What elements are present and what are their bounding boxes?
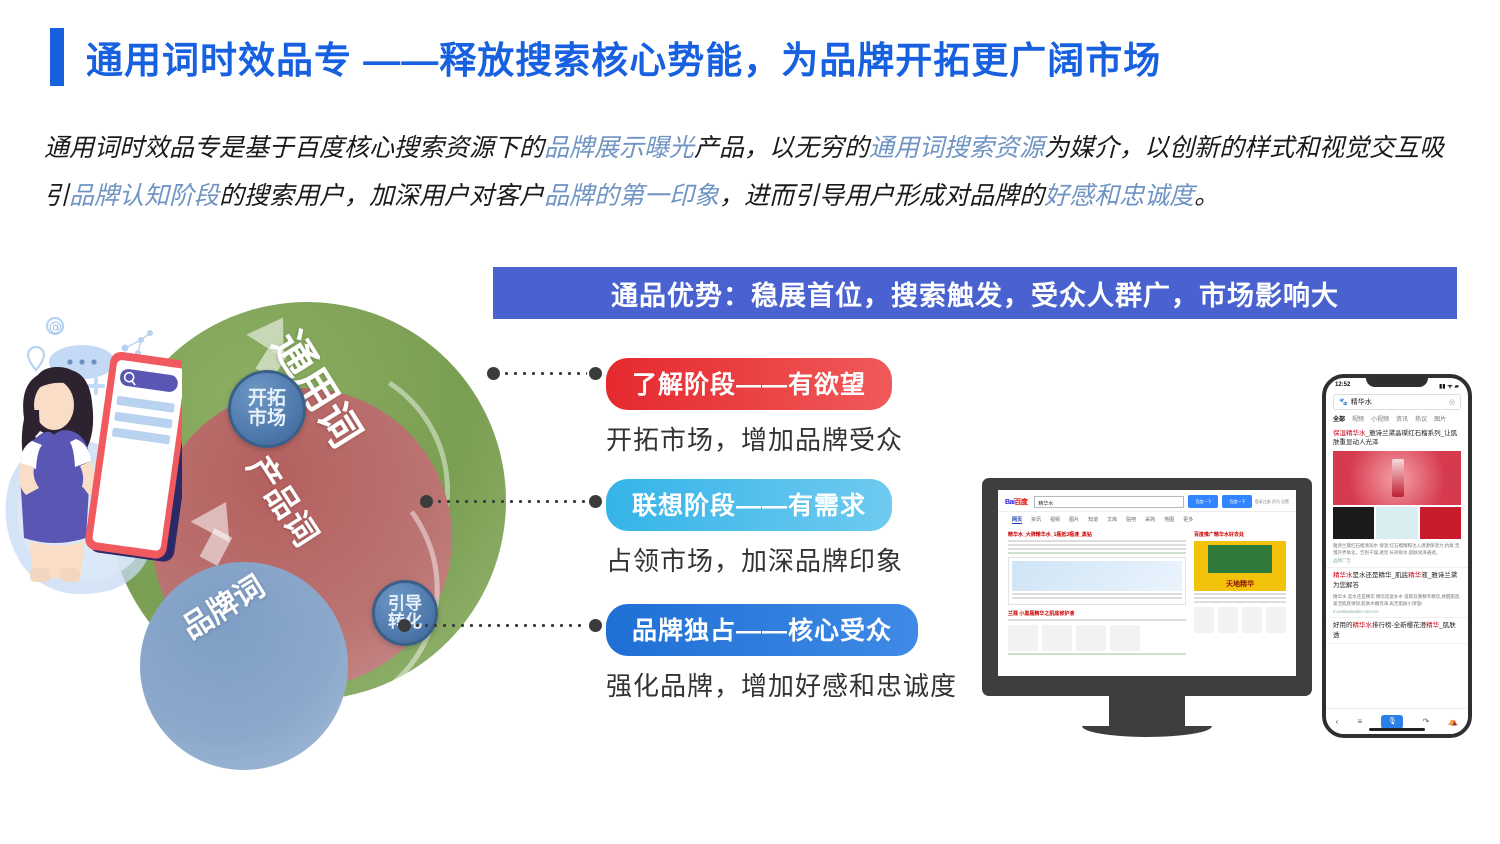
serp-search-button-2[interactable]: 百度一下 [1222, 495, 1252, 508]
badge-open-market-line2: 市场 [248, 409, 286, 429]
serp-tab-0[interactable]: 网页 [1012, 516, 1022, 524]
baidu-logo-du: 百度 [1014, 499, 1027, 506]
serp-sidebar-ad-image [1208, 545, 1272, 573]
stage-block-1: 了解阶段——有欲望 开拓市场，增加品牌受众 [606, 358, 903, 457]
serp-sidebar-ad-banner[interactable]: 天地精华 [1194, 541, 1286, 591]
badge-guide-conversion: 引导 转化 [372, 580, 438, 646]
phone-result-title-3[interactable]: 好用的精华水排行榜-全新樱花澄精华_肌肤透 [1333, 621, 1461, 640]
phone-subimage[interactable] [1376, 507, 1417, 539]
stage-block-2: 联想阶段——有需求 占领市场，加深品牌印象 [606, 479, 903, 578]
phone-tab-bar[interactable]: 全部视频小视频资讯热议图片 [1326, 410, 1468, 426]
serp-results-column: 精华水_大牌精华水_1瓶抵3瓶液_黑钻 兰蔻 小黑瓶精华之肌底修护液 [1008, 531, 1186, 657]
phone-result-title-1[interactable]: 保湿精华水_雅诗兰黛晶璨红石榴系列_让肌肤重显动人光泽 [1333, 429, 1461, 448]
serp-thumbnail-row [1008, 625, 1186, 651]
phone-home-indicator [1369, 728, 1425, 731]
serp-ad-image [1012, 561, 1182, 591]
baidu-serp-desktop: Bai百度 精华水 百度一下 百度一下 登录注册 资讯 设置 网页资讯视频图片知… [998, 490, 1296, 676]
phone-tab-0[interactable]: 全部 [1333, 414, 1345, 423]
title-accent-bar [50, 28, 64, 86]
monitor-screen: Bai百度 精华水 百度一下 百度一下 登录注册 资讯 设置 网页资讯视频图片知… [998, 490, 1296, 676]
serp-snippet-line [1008, 540, 1186, 542]
badge-open-market-line1: 开拓 [248, 389, 286, 409]
connector-dot [589, 367, 602, 380]
serp-thumbnail[interactable] [1242, 607, 1262, 633]
intro-text: 产品，以无穷的 [694, 134, 869, 162]
monitor-bezel: Bai百度 精华水 百度一下 百度一下 登录注册 资讯 设置 网页资讯视频图片知… [982, 478, 1312, 696]
phone-result-subimages [1333, 507, 1461, 539]
phone-tab-1[interactable]: 视频 [1352, 414, 1364, 423]
phone-status-time: 12:52 [1335, 382, 1350, 390]
connector-line-3 [398, 618, 602, 632]
phone-result-desc-1: 雅诗兰黛红石榴清润水 保湿:红石榴精粹注入源源保湿力;抗氧:无惧外界氧化，告别干… [1333, 542, 1461, 556]
serp-sidebar-line [1194, 597, 1286, 599]
serp-ad-line [1012, 593, 1182, 595]
back-icon[interactable]: ‹ [1336, 717, 1339, 726]
phone-notch [1366, 374, 1428, 387]
intro-highlight: 品牌认知阶段 [69, 182, 219, 210]
serp-tab-3[interactable]: 图片 [1069, 516, 1079, 524]
phone-title-keyword: 精华水 [1353, 622, 1373, 629]
serp-sidebar-line [1194, 601, 1286, 603]
intro-text: 的搜索用户，加深用户对客户 [219, 182, 544, 210]
serp-thumbnail[interactable] [1218, 607, 1238, 633]
serp-tab-9[interactable]: 更多 [1183, 516, 1193, 524]
serp-body: 精华水_大牌精华水_1瓶抵3瓶液_黑钻 兰蔻 小黑瓶精华之肌底修护液 [998, 528, 1296, 660]
stage-desc-brand-exclusive: 强化品牌，增加好感和忠诚度 [606, 666, 957, 703]
phone-screen: 12:52 ▮▮ ᯤ ▰ 🐾 精华水 ◎ 全部视频小视频资讯热议图片 保湿精华水… [1322, 374, 1472, 738]
phone-title-keyword: 精华水 [1346, 430, 1366, 437]
serp-thumbnail[interactable] [1110, 625, 1140, 651]
advantage-banner-text: 通品优势：稳展首位，搜索触发，受众人群广，市场影响大 [611, 274, 1339, 313]
phone-title-keyword: 精华水 [1333, 572, 1353, 579]
serp-thumbnail[interactable] [1042, 625, 1072, 651]
connector-dot [398, 619, 411, 632]
phone-tab-2[interactable]: 小视频 [1371, 414, 1389, 423]
stage-pill-consideration: 联想阶段——有需求 [606, 479, 892, 531]
serp-sidebar-title[interactable]: 百度推广精华水好去处 [1194, 531, 1286, 538]
serp-tab-1[interactable]: 资讯 [1031, 516, 1041, 524]
phone-status-icons: ▮▮ ᯤ ▰ [1439, 382, 1459, 390]
intro-highlight: 好感和忠诚度 [1044, 182, 1194, 210]
intro-text: ，进而引导用户形成对品牌的 [719, 182, 1044, 210]
monitor-stand-neck [1109, 694, 1185, 730]
phone-subimage[interactable] [1420, 507, 1461, 539]
connector-dotted-line [435, 500, 587, 503]
phone-title-text: 是水还是精华_肌底 [1353, 572, 1409, 579]
phone-result-1[interactable]: 保湿精华水_雅诗兰黛晶璨红石榴系列_让肌肤重显动人光泽 雅诗兰黛红石榴清润水 保… [1326, 426, 1468, 568]
serp-search-button-1[interactable]: 百度一下 [1188, 495, 1218, 508]
connector-dot [589, 619, 602, 632]
connector-dot [420, 495, 433, 508]
serp-tab-5[interactable]: 文库 [1107, 516, 1117, 524]
serp-header: Bai百度 精华水 百度一下 百度一下 登录注册 资讯 设置 [998, 490, 1296, 512]
phone-title-text: 好用的 [1333, 622, 1353, 629]
phone-result-desc-2: 精华水 是水还是精华 精华反复补水 提取双重精萃精华,焕醒肌底,紧活肌底弹韧,肌… [1333, 593, 1461, 607]
phone-result-url-2[interactable]: m.estlaelauder.com.cn [1333, 609, 1461, 614]
phone-tab-4[interactable]: 热议 [1415, 414, 1427, 423]
monitor-stand-base [1082, 726, 1212, 737]
serp-thumbnail[interactable] [1076, 625, 1106, 651]
intro-text: 。 [1194, 182, 1219, 210]
serp-tab-4[interactable]: 知道 [1088, 516, 1098, 524]
avatar-icon[interactable]: ⛺ [1448, 717, 1458, 726]
phone-title-keyword: 保湿 [1333, 430, 1346, 437]
page-header: 通用词时效品专 ——释放搜索核心势能，为品牌开拓更广阔市场 [50, 28, 1161, 86]
connector-dotted-line [502, 372, 587, 375]
serp-tab-2[interactable]: 视频 [1050, 516, 1060, 524]
baidu-paw-icon: 🐾 [1339, 398, 1348, 406]
phone-title-keyword: 精华 [1426, 622, 1439, 629]
intro-highlight: 品牌展示曝光 [544, 134, 694, 162]
intro-paragraph: 通用词时效品专是基于百度核心搜索资源下的品牌展示曝光产品，以无穷的通用词搜索资源… [44, 124, 1464, 220]
serp-tab-7[interactable]: 采购 [1145, 516, 1155, 524]
intro-highlight: 品牌的第一印象 [544, 182, 719, 210]
refresh-icon[interactable]: ↷ [1423, 717, 1430, 726]
serp-snippet-line [1008, 544, 1186, 546]
woman-with-phone-illustration: @ [2, 300, 182, 700]
badge-open-market: 开拓 市场 [228, 370, 306, 448]
serp-search-input[interactable]: 精华水 [1034, 496, 1184, 508]
phone-search-value: 精华水 [1351, 397, 1372, 407]
serp-result-title[interactable]: 精华水_大牌精华水_1瓶抵3瓶液_黑钻 [1008, 531, 1186, 538]
baidu-logo-icon: Bai百度 [1005, 497, 1027, 507]
phone-result-label-1: 品牌广告 [1333, 558, 1461, 564]
serp-result-title-2[interactable]: 兰蔻 小黑瓶精华之肌底修护液 [1008, 610, 1186, 617]
stage-desc-consideration: 占领市场，加深品牌印象 [606, 541, 903, 578]
serp-thumbnail[interactable] [1194, 607, 1214, 633]
connector-line-2 [420, 494, 602, 508]
mic-icon[interactable]: 🎙 [1381, 715, 1403, 729]
intro-highlight: 通用词搜索资源 [869, 134, 1044, 162]
product-bottle-shape [1392, 459, 1404, 497]
phone-result-2[interactable]: 精华水是水还是精华_肌底精华液_雅诗兰黛为您解答 精华水 是水还是精华 精华反复… [1326, 568, 1468, 618]
stage-block-3: 品牌独占——核心受众 强化品牌，增加好感和忠诚度 [606, 604, 957, 703]
mobile-phone-mockup: 12:52 ▮▮ ᯤ ▰ 🐾 精华水 ◎ 全部视频小视频资讯热议图片 保湿精华水… [1322, 374, 1472, 738]
serp-url-line [1008, 552, 1186, 554]
stage-pill-awareness: 了解阶段——有欲望 [606, 358, 892, 410]
phone-result-image-main [1333, 451, 1461, 505]
serp-sidebar-column: 百度推广精华水好去处 天地精华 [1194, 531, 1286, 657]
serp-ad-box [1008, 557, 1186, 605]
serp-snippet-line [1008, 619, 1186, 621]
stage-desc-awareness: 开拓市场，增加品牌受众 [606, 420, 903, 457]
serp-tab-6[interactable]: 贴吧 [1126, 516, 1136, 524]
serp-ad-line [1012, 597, 1182, 599]
serp-url-line [1008, 653, 1186, 655]
keyword-funnel-diagram: 通用词 产品词 品牌词 开拓 市场 引导 转化 @ [0, 290, 520, 740]
phone-result-title-2[interactable]: 精华水是水还是精华_肌底精华液_雅诗兰黛为您解答 [1333, 571, 1461, 590]
phone-tab-3[interactable]: 资讯 [1396, 414, 1408, 423]
serp-sidebar-line [1194, 593, 1286, 595]
serp-snippet-line [1008, 548, 1186, 550]
advantage-banner: 通品优势：稳展首位，搜索触发，受众人群广，市场影响大 [493, 267, 1457, 319]
connector-dotted-line [413, 624, 587, 627]
serp-thumbnail[interactable] [1266, 607, 1286, 633]
intro-text: 通用词时效品专是基于百度核心搜索资源下的 [44, 134, 544, 162]
desktop-monitor-mockup: Bai百度 精华水 百度一下 百度一下 登录注册 资讯 设置 网页资讯视频图片知… [982, 478, 1312, 753]
serp-sidebar-ad-text: 天地精华 [1194, 579, 1286, 589]
serp-user-links[interactable]: 登录注册 资讯 设置 [1255, 499, 1289, 505]
menu-icon[interactable]: ≡ [1357, 717, 1362, 726]
svg-text:@: @ [49, 320, 62, 335]
serp-tab-bar[interactable]: 网页资讯视频图片知道文库贴吧采购地图更多 [998, 512, 1296, 528]
phone-title-keyword: 精华 [1408, 572, 1421, 579]
phone-tab-5[interactable]: 图片 [1434, 414, 1446, 423]
connector-line-1 [487, 366, 602, 380]
page-title: 通用词时效品专 ——释放搜索核心势能，为品牌开拓更广阔市场 [86, 30, 1161, 84]
phone-subimage[interactable] [1333, 507, 1374, 539]
serp-thumbnail[interactable] [1008, 625, 1038, 651]
connector-dot [487, 367, 500, 380]
serp-sidebar-thumbs [1194, 607, 1286, 633]
camera-icon[interactable]: ◎ [1449, 398, 1455, 406]
serp-tab-8[interactable]: 地图 [1164, 516, 1174, 524]
phone-result-3[interactable]: 好用的精华水排行榜-全新樱花澄精华_肌肤透 [1326, 618, 1468, 644]
badge-guide-conversion-line1: 引导 [388, 595, 422, 613]
phone-search-bar[interactable]: 🐾 精华水 ◎ [1333, 394, 1461, 410]
phone-title-text: 排行榜-全新樱花澄 [1372, 622, 1426, 629]
stage-pill-brand-exclusive: 品牌独占——核心受众 [606, 604, 918, 656]
connector-dot [589, 495, 602, 508]
